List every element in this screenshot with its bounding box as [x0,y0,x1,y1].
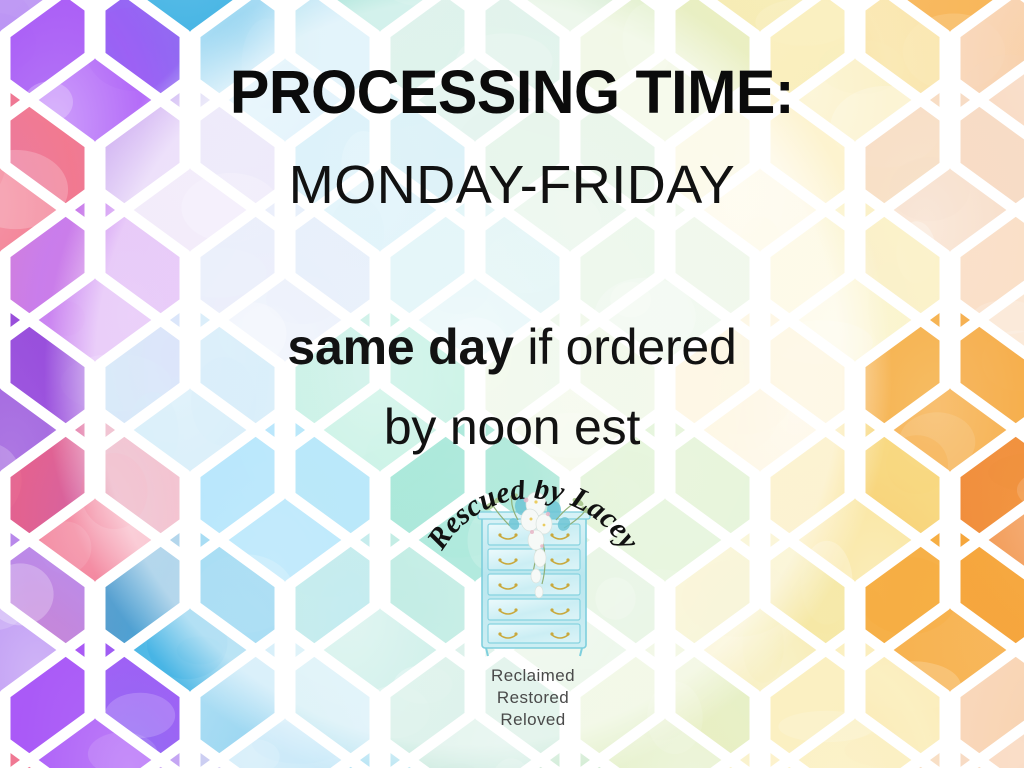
hexagon-grout [955,409,1024,672]
poster-canvas: PROCESSING TIME: MONDAY-FRIDAY same day … [0,0,1024,768]
hexagon-grout [0,0,90,121]
logo-tagline: Reclaimed Restored Reloved [418,665,648,730]
tagline-line-3: Reloved [418,709,648,731]
hexagon-grout [955,189,1024,452]
tagline-line-2: Restored [418,687,648,709]
tagline-line-1: Reclaimed [418,665,648,687]
